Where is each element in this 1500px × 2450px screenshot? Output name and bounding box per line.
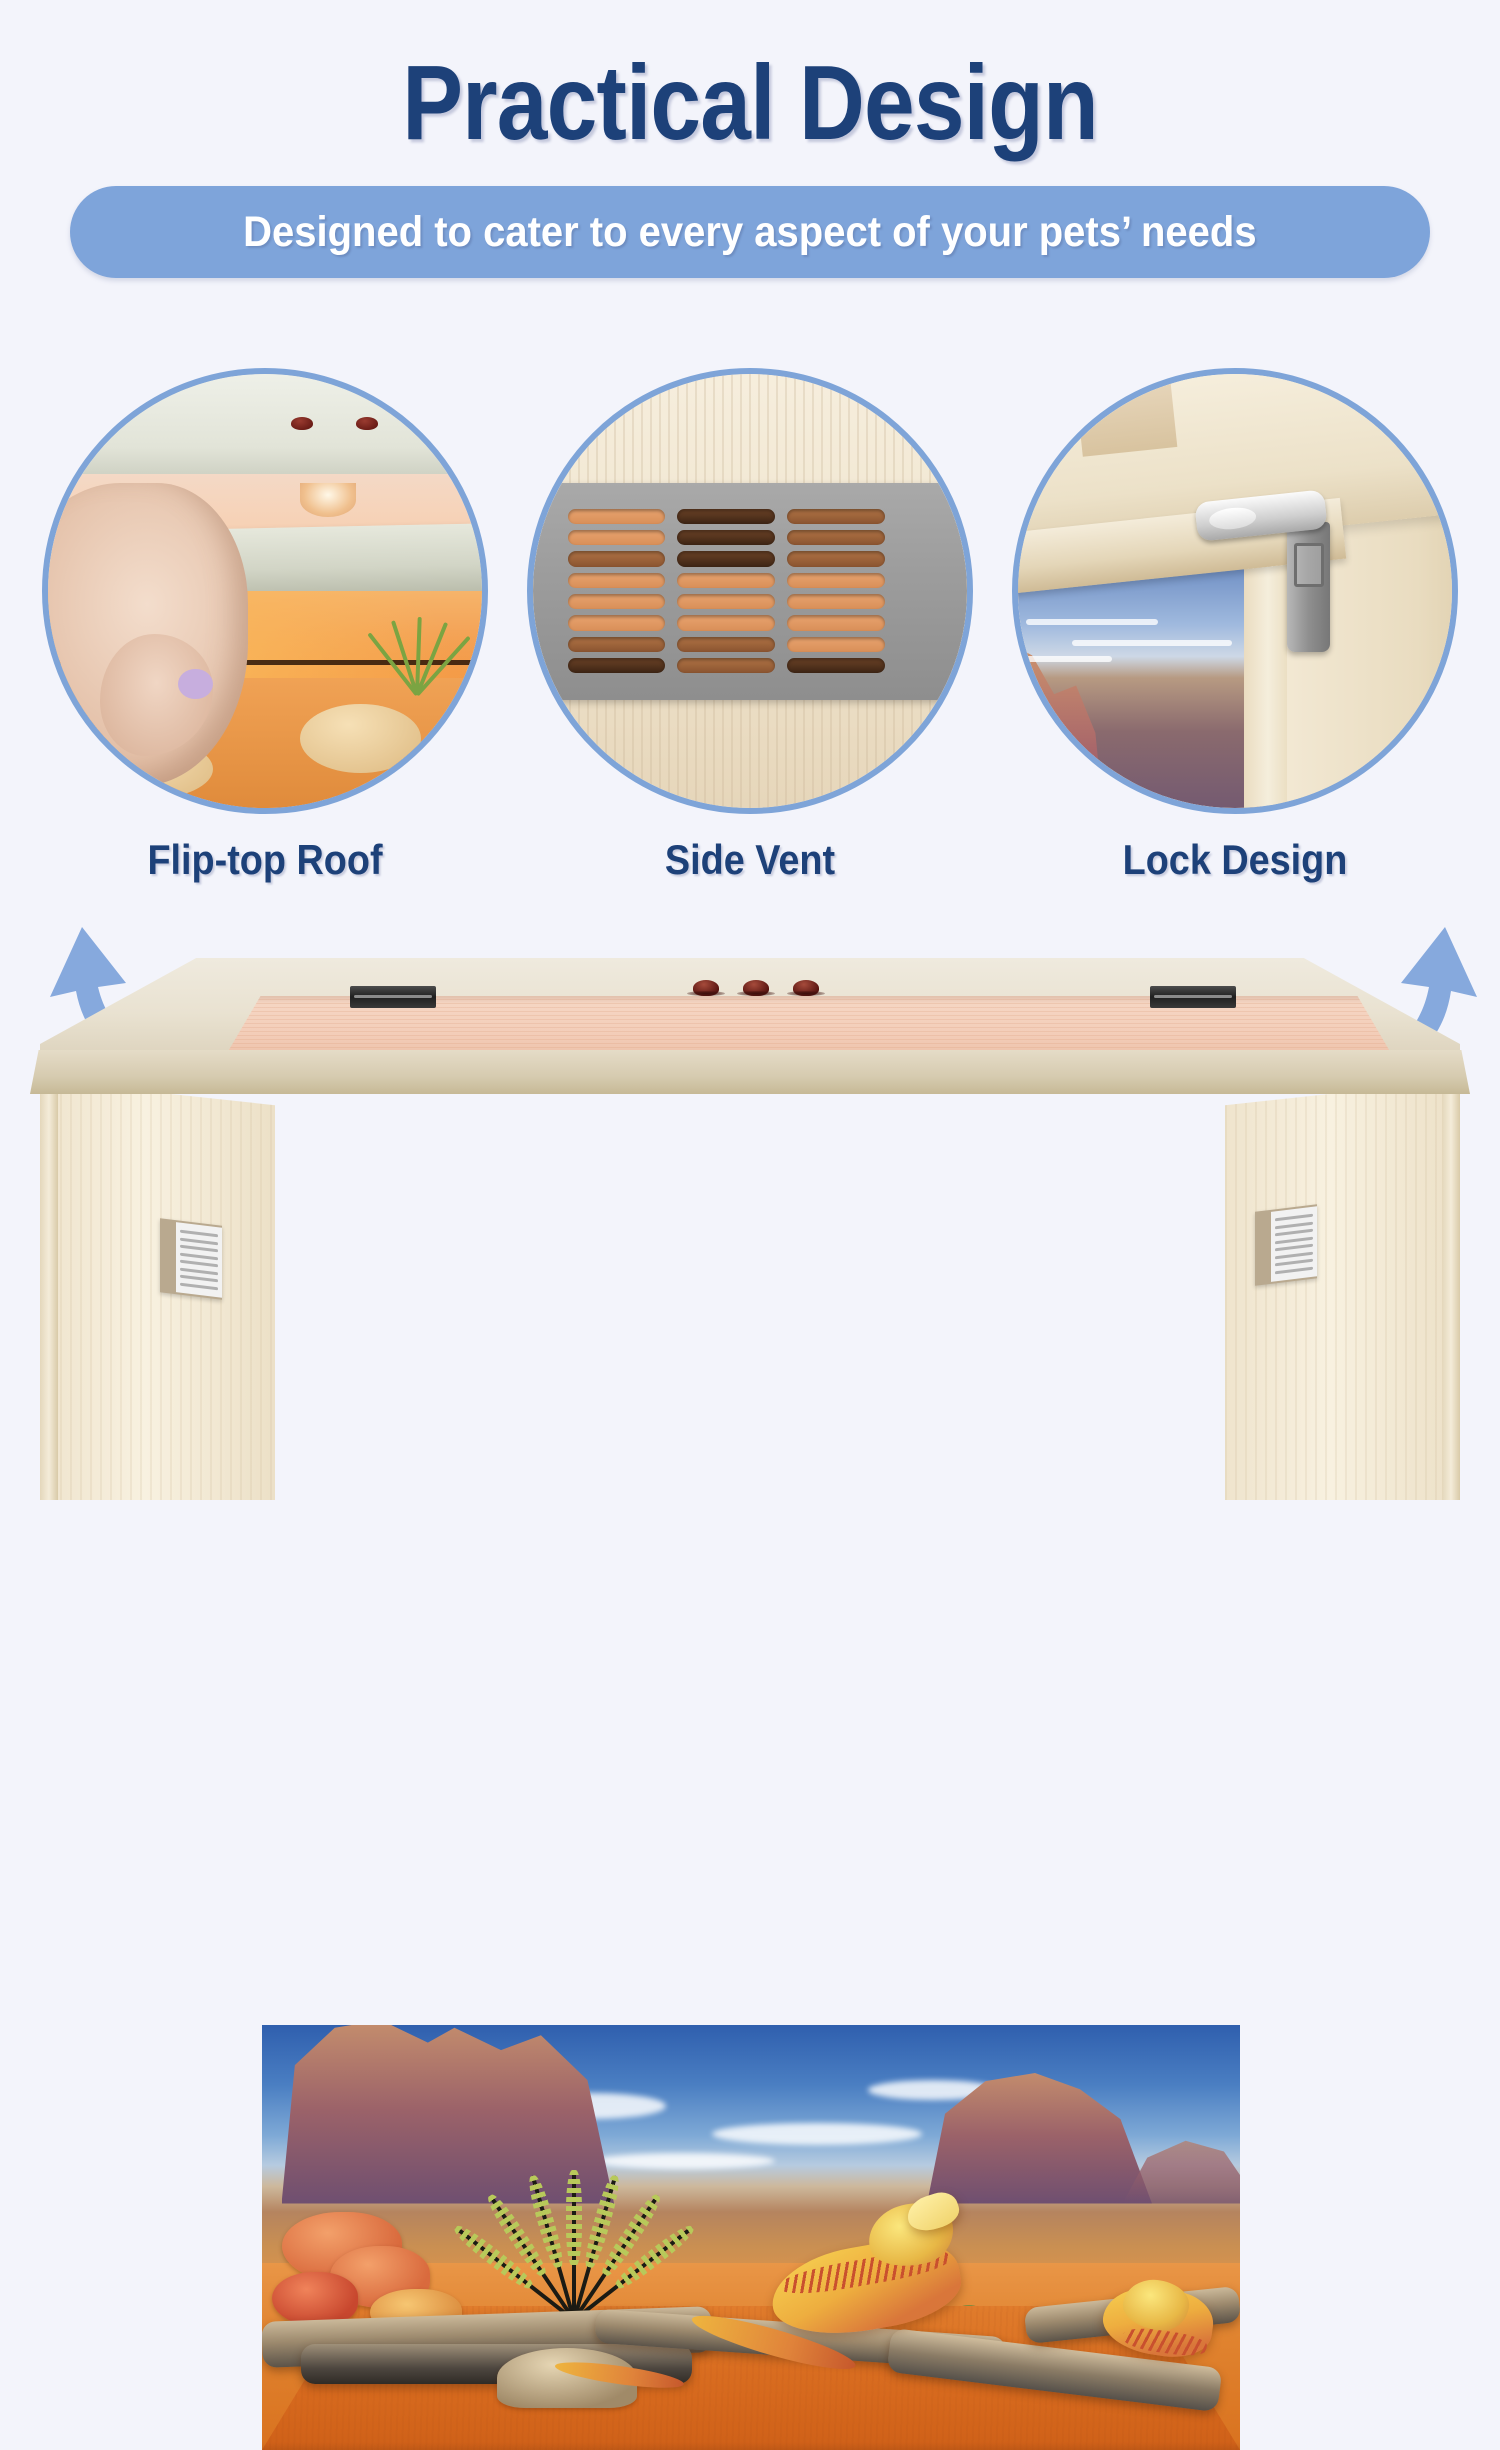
subtitle-text: Designed to cater to every aspect of you… xyxy=(243,208,1256,257)
feature-flip-top-roof: Flip-top Roof xyxy=(42,368,488,884)
lock-icon xyxy=(1287,522,1330,652)
feature-image-side-vent xyxy=(527,368,973,814)
subtitle-banner: Designed to cater to every aspect of you… xyxy=(70,186,1430,278)
plant-decor-icon xyxy=(382,617,456,695)
terrarium-right-panel xyxy=(1225,1080,1460,1500)
feature-label-lock-design: Lock Design xyxy=(1034,836,1435,884)
feature-label-side-vent: Side Vent xyxy=(549,836,950,884)
lamp-knob-icon xyxy=(743,980,769,996)
side-vent-grille-right xyxy=(1255,1204,1317,1286)
lamp-knob-icon xyxy=(793,980,819,996)
hinge-icon xyxy=(350,986,436,1008)
feature-lock-design: Lock Design xyxy=(1012,368,1458,884)
side-vent-grille-left xyxy=(160,1218,222,1300)
fern-plant-decor xyxy=(497,2170,647,2320)
terrarium-left-panel xyxy=(40,1080,275,1500)
feature-image-flip-top-roof xyxy=(42,368,488,814)
feature-side-vent: Side Vent xyxy=(527,368,973,884)
feature-row: Flip-top Roof xyxy=(0,368,1500,918)
hinge-icon xyxy=(1150,986,1236,1008)
vent-grille-icon xyxy=(533,483,967,700)
terrarium-lid xyxy=(40,958,1460,1058)
page-title: Practical Design xyxy=(105,46,1395,160)
lamp-knob-icon xyxy=(693,980,719,996)
feature-image-lock-design xyxy=(1012,368,1458,814)
feature-label-flip-top-roof: Flip-top Roof xyxy=(64,836,465,884)
terrarium-interior xyxy=(262,2025,1240,2450)
